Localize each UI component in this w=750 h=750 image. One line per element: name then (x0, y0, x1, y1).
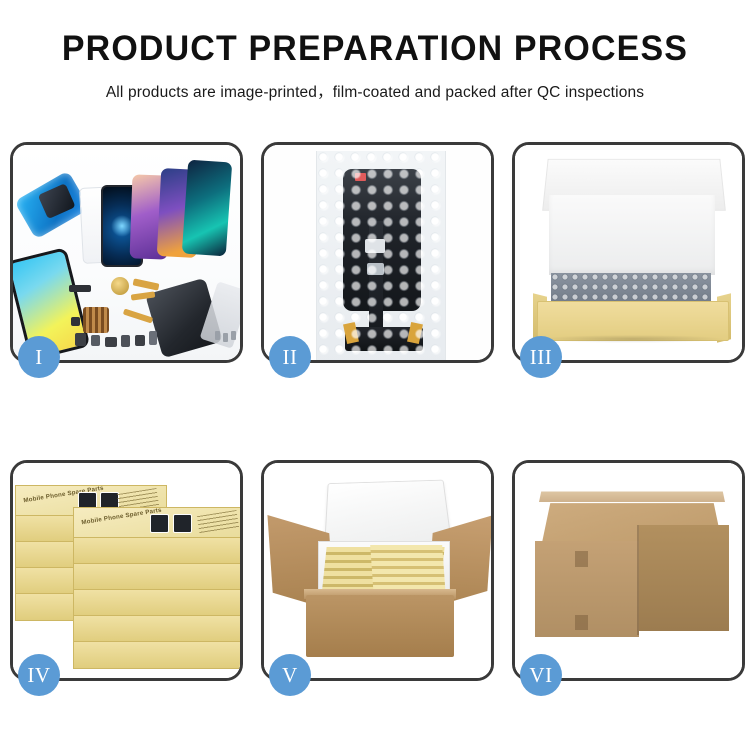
stacked-boxes-scene: Mobile Phone Spare Parts Mobile Phone Sp… (13, 463, 240, 678)
retail-box-front-2 (73, 537, 240, 565)
box-spec-lines-2-icon (197, 510, 239, 534)
retail-box-top-front: Mobile Phone Spare Parts (73, 507, 240, 539)
small-part-4-icon (121, 335, 130, 347)
flex-cable-a-icon (133, 278, 160, 290)
page-subtitle: All products are image-printed，film-coat… (0, 80, 750, 102)
box-screen-print-3-icon (150, 514, 169, 533)
phone-parts-scene (13, 145, 240, 360)
box-stack-front: Mobile Phone Spare Parts (73, 507, 240, 675)
small-part-6-icon (149, 331, 157, 345)
step-badge-5: V (269, 654, 311, 696)
carton-seam-bottom-icon (575, 615, 588, 630)
blue-phone-panel-icon (14, 170, 90, 239)
step-image-4: Mobile Phone Spare Parts Mobile Phone Sp… (13, 463, 240, 678)
step-card-6: VI (512, 460, 745, 681)
sealed-carton-scene (515, 463, 742, 678)
retail-box-front-5 (73, 615, 240, 643)
retail-box-front-6 (73, 641, 240, 669)
open-box-foam-scene (515, 145, 742, 360)
page-header: PRODUCT PREPARATION PROCESS All products… (0, 0, 750, 102)
product-preparation-page: PRODUCT PREPARATION PROCESS All products… (0, 0, 750, 750)
small-part-5-icon (135, 335, 145, 346)
small-part-2-icon (91, 335, 100, 346)
step-badge-2: II (269, 336, 311, 378)
foam-sheet-icon (549, 195, 715, 275)
step-image-2 (264, 145, 491, 360)
step-image-1 (13, 145, 240, 360)
step-badge-3: III (520, 336, 562, 378)
step-image-6 (515, 463, 742, 678)
spare-parts-group (71, 277, 191, 355)
step-card-1: I (10, 142, 243, 363)
bubble-wrapped-lcd-scene (264, 145, 491, 360)
screws-group-icon (215, 331, 237, 343)
retail-box-front-3 (73, 563, 240, 591)
box-shadow (541, 335, 723, 343)
step-image-5 (264, 463, 491, 678)
retail-box-front-4 (73, 589, 240, 617)
carton-seam-top-icon (575, 551, 588, 567)
carton-vertical-edge (637, 525, 639, 635)
step-image-3 (515, 145, 742, 360)
bubble-overlay-icon (317, 151, 445, 360)
step-card-2: II (261, 142, 494, 363)
bubble-wrap-bag-icon (316, 151, 446, 360)
carton-packing-scene (264, 463, 491, 678)
carton-right-face-icon (639, 525, 729, 631)
step-card-3: III (512, 142, 745, 363)
box-screen-print-4-icon (173, 514, 192, 533)
speaker-bar-icon (69, 285, 91, 292)
step-card-4: Mobile Phone Spare Parts Mobile Phone Sp… (10, 460, 243, 681)
process-steps-grid: I (10, 142, 740, 681)
small-part-3-icon (105, 337, 117, 347)
page-title: PRODUCT PREPARATION PROCESS (11, 30, 739, 69)
carton-front-panel-icon (306, 595, 454, 657)
flex-cable-b-icon (131, 291, 156, 300)
small-part-7-icon (71, 317, 80, 326)
step-badge-6: VI (520, 654, 562, 696)
step-badge-1: I (18, 336, 60, 378)
coil-part-icon (111, 277, 129, 295)
sealing-tape-icon (539, 491, 725, 502)
small-part-1-icon (75, 333, 86, 346)
chip-grid-part-icon (83, 307, 109, 333)
step-badge-4: IV (18, 654, 60, 696)
phone-display-teal-icon (182, 160, 232, 257)
flex-cable-c-icon (123, 309, 153, 324)
step-card-5: V (261, 460, 494, 681)
